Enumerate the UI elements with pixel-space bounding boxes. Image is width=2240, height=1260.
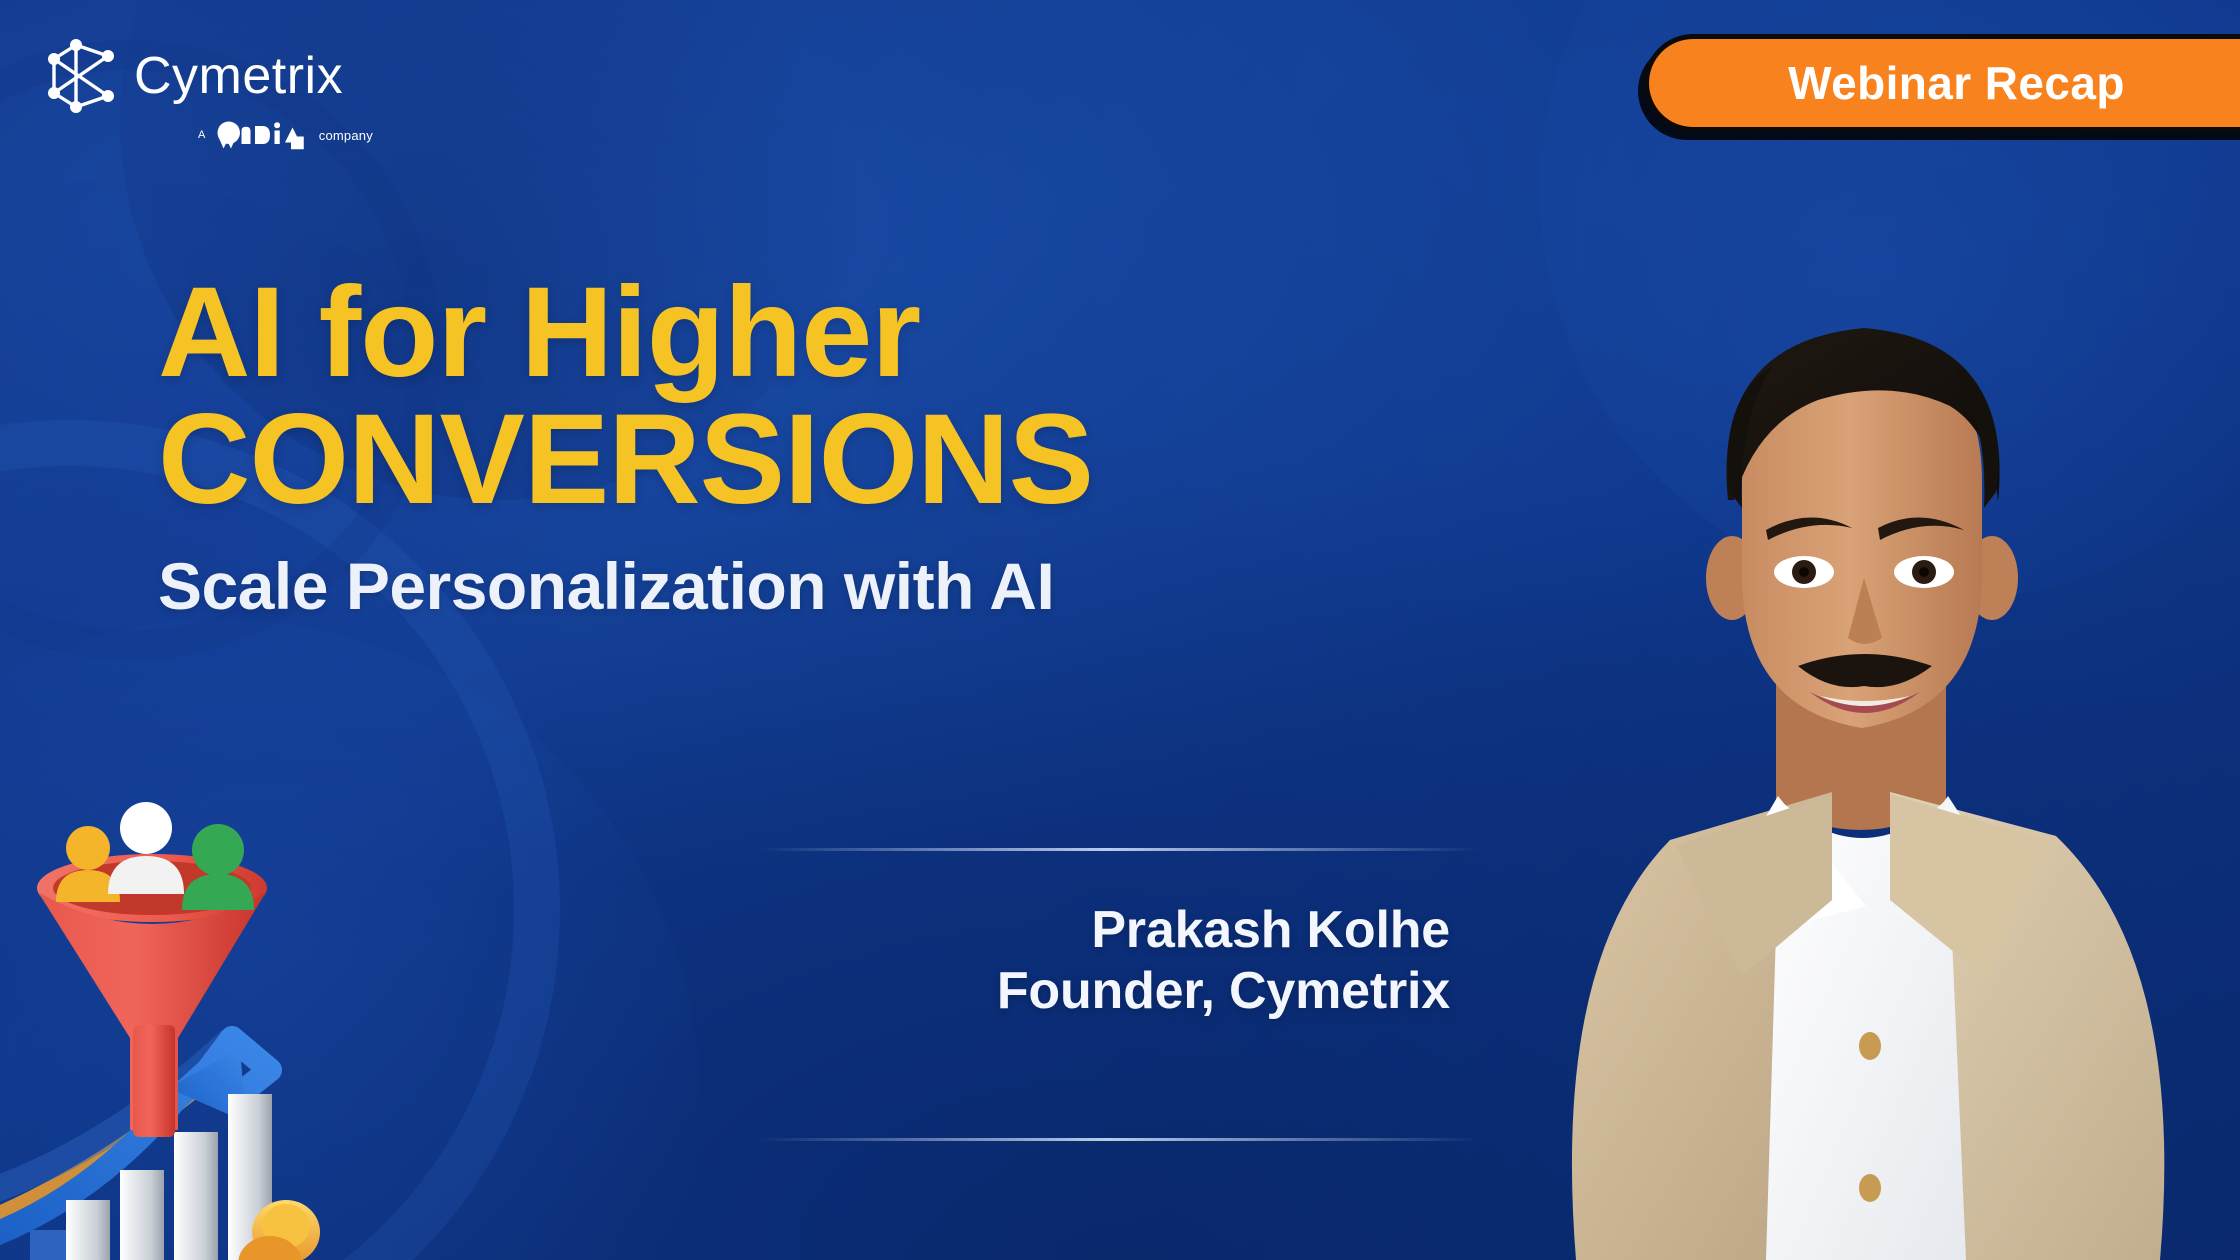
parent-company-suffix: company [319, 128, 373, 143]
person-figure-white [108, 802, 184, 894]
brand-name: Cymetrix [134, 50, 343, 102]
brand-logo: Cymetrix A company [46, 36, 426, 156]
headline-line-2: CONVERSIONS [158, 399, 1498, 522]
speaker-portrait [1480, 200, 2240, 1260]
webinar-recap-badge[interactable]: Webinar Recap [1644, 34, 2240, 132]
eye-left [1774, 556, 1834, 588]
divider-top [760, 848, 1480, 851]
shirt-button-lower [1859, 1174, 1881, 1202]
speaker-role: Founder, Cymetrix [760, 961, 1450, 1022]
eye-right [1894, 556, 1954, 588]
headline-block: AI for Higher CONVERSIONS Scale Personal… [158, 272, 1498, 624]
shirt-button-upper [1859, 1032, 1881, 1060]
divider-bottom [760, 1138, 1480, 1141]
parent-company-lockup: A company [198, 120, 426, 150]
badge-label: Webinar Recap [1788, 56, 2125, 110]
parent-company-prefix: A [198, 129, 206, 141]
wndia-wordmark-icon [213, 120, 312, 150]
speaker-block: Prakash Kolhe Founder, Cymetrix [760, 900, 1450, 1023]
subheadline: Scale Personalization with AI [158, 548, 1498, 624]
webinar-recap-banner: Cymetrix A company Webinar Recap AI for … [0, 0, 2240, 1260]
speaker-name: Prakash Kolhe [760, 900, 1450, 961]
network-hexagon-icon [46, 36, 120, 116]
headline-line-1: AI for Higher [158, 272, 1498, 395]
sales-funnel-graphic [0, 770, 570, 1260]
